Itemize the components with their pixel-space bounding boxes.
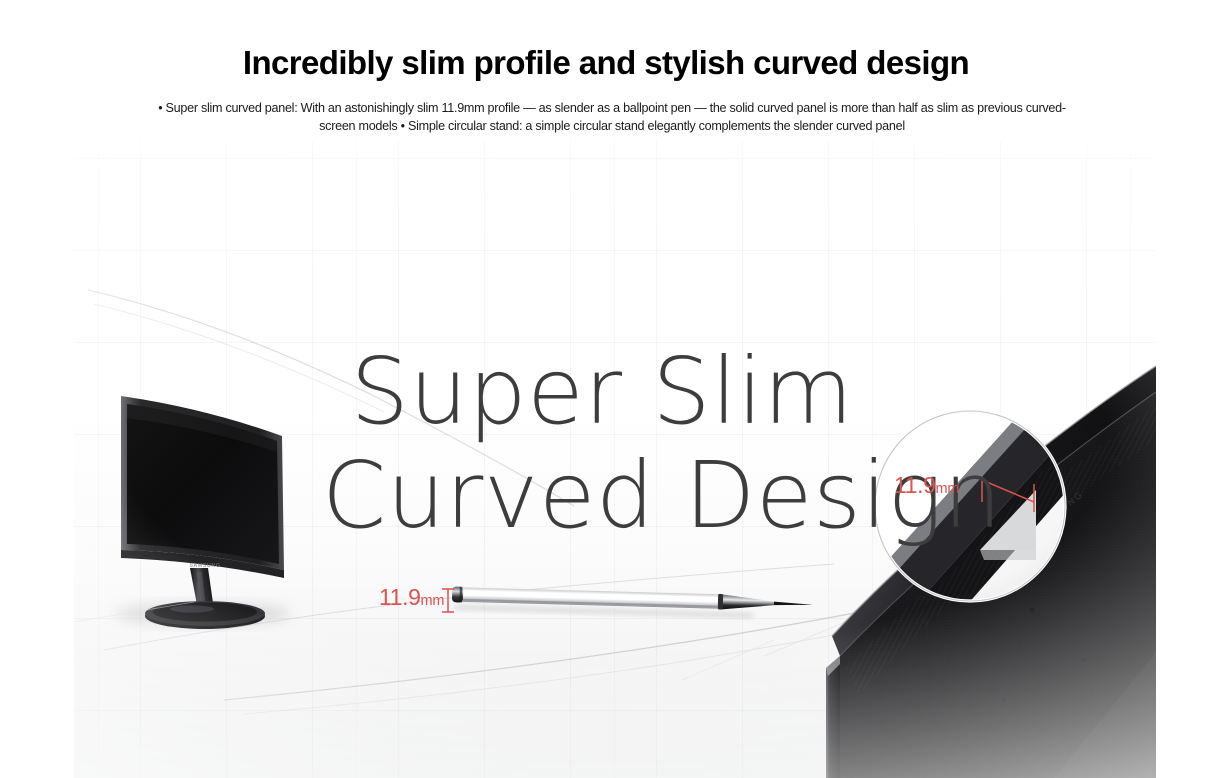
measurement-unit-edge: mm (935, 481, 959, 497)
measurement-label-pen: 11.9mm (379, 586, 444, 609)
measurement-value-pen: 11.9 (379, 584, 420, 610)
hero-product-image: SAMSUNG (74, 140, 1156, 778)
measurement-value-edge: 11.9 (894, 472, 935, 498)
feature-description-line-1: • Super slim curved panel: With an aston… (158, 101, 974, 115)
measurement-unit-pen: mm (420, 593, 444, 609)
curved-monitor-front: SAMSUNG (114, 396, 290, 629)
product-feature-page: Incredibly slim profile and stylish curv… (0, 0, 1212, 778)
feature-description: • Super slim curved panel: With an aston… (156, 99, 1068, 136)
page-title: Incredibly slim profile and stylish curv… (0, 41, 1212, 85)
ballpoint-pen (452, 586, 813, 619)
hero-artwork: SAMSUNG (74, 140, 1156, 778)
measurement-label-edge: 11.9mm (894, 474, 959, 497)
